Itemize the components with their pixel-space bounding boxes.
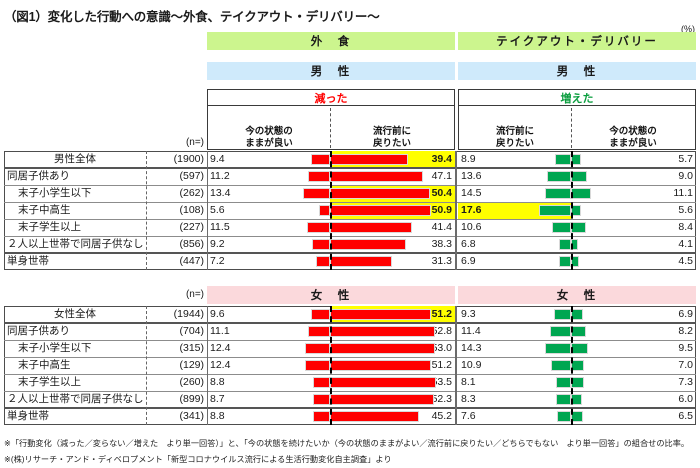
figure-page: （図1）変化した行動への意識～外食、テイクアウト・デリバリー～ (%) 外 食 … bbox=[0, 0, 700, 468]
gaishoku-left-value: 7.2 bbox=[207, 253, 330, 270]
male-data-table: 男性全体(1900)9.439.48.95.7同居子供あり(597)11.247… bbox=[4, 151, 696, 270]
takeout-right-value: 5.7 bbox=[571, 151, 696, 168]
takeout-left-bar bbox=[545, 188, 571, 199]
takeout-right-value: 4.5 bbox=[571, 253, 696, 270]
takeout-right-value: 5.6 bbox=[571, 202, 696, 219]
gaishoku-center-axis bbox=[330, 306, 332, 425]
header-change-takeout: 増えた bbox=[458, 89, 696, 106]
footnote-2: ※(株)リサーチ・アンド・ディベロプメント「新型コロナウイルス流行による生活行動… bbox=[4, 453, 392, 465]
gaishoku-sub-left-line2: ままが良い bbox=[210, 138, 328, 150]
row-separator bbox=[4, 391, 696, 392]
row-sample-size: (262) bbox=[146, 185, 206, 202]
category-band-takeout: テイクアウト・デリバリー bbox=[458, 32, 696, 50]
row-separator bbox=[4, 407, 696, 409]
header-sub-takeout-left: 流行前に 戻りたい bbox=[460, 126, 570, 149]
gaishoku-left-bar bbox=[312, 239, 330, 250]
gaishoku-right-bar bbox=[330, 188, 430, 199]
takeout-left-bar bbox=[552, 222, 571, 233]
gender-band-female-takeout: 女 性 bbox=[458, 286, 696, 304]
gaishoku-right-bar bbox=[330, 326, 435, 337]
gaishoku-left-value: 5.6 bbox=[207, 202, 330, 219]
gender-band-female-gaishoku: 女 性 bbox=[207, 286, 455, 304]
row-label: 単身世帯 bbox=[4, 408, 146, 425]
gaishoku-sub-right-line1: 流行前に bbox=[332, 126, 452, 138]
takeout-right-value: 7.0 bbox=[571, 357, 696, 374]
takeout-left-edge bbox=[456, 151, 457, 270]
row-separator bbox=[4, 374, 696, 375]
gaishoku-sub-left-line1: 今の状態の bbox=[210, 126, 328, 138]
takeout-center-axis bbox=[571, 306, 573, 425]
takeout-right-value: 4.1 bbox=[571, 236, 696, 253]
footnote-1: ※「行動変化（減った／変らない／増えた より単一回答）」と、「今の状態を続けたい… bbox=[4, 437, 689, 449]
takeout-right-value: 8.4 bbox=[571, 219, 696, 236]
gaishoku-right-bar bbox=[330, 309, 431, 320]
category-label-takeout: テイクアウト・デリバリー bbox=[496, 33, 658, 49]
row-label: 末子小学生以下 bbox=[4, 340, 146, 357]
table-row[interactable]: 末子中高生(108)5.650.917.65.6 bbox=[4, 202, 696, 219]
takeout-left-bar bbox=[556, 394, 571, 405]
gaishoku-left-bar bbox=[313, 377, 330, 388]
row-separator bbox=[4, 202, 696, 203]
gaishoku-left-bar bbox=[303, 188, 330, 199]
takeout-left-bar bbox=[545, 343, 571, 354]
takeout-right-bar bbox=[571, 171, 587, 182]
category-band-gaishoku: 外 食 bbox=[207, 32, 455, 50]
gaishoku-right-bar bbox=[330, 394, 434, 405]
row-label: 同居子供あり bbox=[4, 168, 146, 185]
table-row[interactable]: 末子学生以上(260)8.853.58.17.3 bbox=[4, 374, 696, 391]
row-label: 末子小学生以下 bbox=[4, 185, 146, 202]
takeout-left-bar bbox=[539, 205, 571, 216]
row-label: 男性全体 bbox=[4, 151, 146, 168]
row-separator bbox=[4, 236, 696, 237]
row-sample-size: (856) bbox=[146, 236, 206, 253]
table-row[interactable]: 末子小学生以下(262)13.450.414.511.1 bbox=[4, 185, 696, 202]
gaishoku-right-bar bbox=[330, 205, 431, 216]
gaishoku-sub-right-line2: 戻りたい bbox=[332, 138, 452, 150]
takeout-right-bar bbox=[571, 188, 591, 199]
takeout-left-bar bbox=[559, 256, 571, 267]
gaishoku-left-value: 8.7 bbox=[207, 391, 330, 408]
row-label: 単身世帯 bbox=[4, 253, 146, 270]
header-sub-takeout-right: 今の状態の ままが良い bbox=[573, 126, 693, 149]
takeout-left-value: 7.6 bbox=[458, 408, 571, 425]
row-separator bbox=[4, 322, 696, 324]
gaishoku-right-bar bbox=[330, 239, 406, 250]
gaishoku-left-edge bbox=[207, 151, 208, 270]
row-label: ２人以上世帯で同居子供なし bbox=[4, 236, 146, 253]
gender-label-female-2: 女 性 bbox=[557, 287, 598, 303]
gaishoku-left-bar bbox=[313, 411, 330, 422]
takeout-left-bar bbox=[559, 239, 571, 250]
gaishoku-left-edge bbox=[207, 306, 208, 425]
takeout-left-bar bbox=[556, 377, 571, 388]
category-label-gaishoku: 外 食 bbox=[311, 33, 352, 49]
gender-label-female-1: 女 性 bbox=[311, 287, 352, 303]
row-separator bbox=[4, 340, 696, 341]
row-separator bbox=[4, 252, 696, 254]
table-row[interactable]: 単身世帯(447)7.231.36.94.5 bbox=[4, 253, 696, 270]
gaishoku-right-bar bbox=[330, 222, 412, 233]
gaishoku-right-bar bbox=[330, 360, 431, 371]
gaishoku-left-bar bbox=[319, 205, 330, 216]
gaishoku-left-value: 8.8 bbox=[207, 408, 330, 425]
takeout-left-edge bbox=[456, 306, 457, 425]
gaishoku-right-bar bbox=[330, 256, 392, 267]
takeout-sub-right-line1: 今の状態の bbox=[573, 126, 693, 138]
table-row[interactable]: 単身世帯(341)8.845.27.66.5 bbox=[4, 408, 696, 425]
row-sample-size: (597) bbox=[146, 168, 206, 185]
takeout-right-value: 6.0 bbox=[571, 391, 696, 408]
row-sample-size: (899) bbox=[146, 391, 206, 408]
gender-band-male-gaishoku: 男 性 bbox=[207, 62, 455, 80]
takeout-left-bar bbox=[554, 309, 571, 320]
row-sample-size: (1900) bbox=[146, 151, 206, 168]
gaishoku-center-axis bbox=[330, 151, 332, 270]
takeout-sub-left-line1: 流行前に bbox=[460, 126, 570, 138]
header-change-gaishoku: 減った bbox=[207, 89, 455, 106]
takeout-center-axis bbox=[571, 151, 573, 270]
n-header-male: (n=) bbox=[146, 136, 206, 150]
n-header-female: (n=) bbox=[146, 288, 206, 302]
takeout-right-value: 8.2 bbox=[571, 323, 696, 340]
gender-band-male-takeout: 男 性 bbox=[458, 62, 696, 80]
row-sample-size: (260) bbox=[146, 374, 206, 391]
row-sample-size: (227) bbox=[146, 219, 206, 236]
takeout-right-value: 9.5 bbox=[571, 340, 696, 357]
row-sample-size: (447) bbox=[146, 253, 206, 270]
table-row[interactable]: 同居子供あり(597)11.247.113.69.0 bbox=[4, 168, 696, 185]
row-sample-size: (315) bbox=[146, 340, 206, 357]
row-sample-size: (129) bbox=[146, 357, 206, 374]
row-separator bbox=[4, 167, 696, 169]
takeout-right-bar bbox=[571, 343, 588, 354]
row-separator bbox=[4, 185, 696, 186]
row-sample-size: (704) bbox=[146, 323, 206, 340]
takeout-sub-right-line2: ままが良い bbox=[573, 138, 693, 150]
takeout-left-value: 8.3 bbox=[458, 391, 571, 408]
gaishoku-right-bar bbox=[330, 377, 436, 388]
table-row[interactable]: 末子学生以上(227)11.541.410.68.4 bbox=[4, 219, 696, 236]
takeout-right-bar bbox=[571, 326, 586, 337]
page-title: （図1）変化した行動への意識～外食、テイクアウト・デリバリー～ bbox=[4, 6, 380, 25]
takeout-left-value: 6.9 bbox=[458, 253, 571, 270]
female-data-table: 女性全体(1944)9.651.29.36.9同居子供あり(704)11.152… bbox=[4, 306, 696, 425]
gender-label-male-1: 男 性 bbox=[311, 63, 352, 79]
change-label-takeout: 増えた bbox=[561, 90, 594, 106]
row-label: 女性全体 bbox=[4, 306, 146, 323]
table-row[interactable]: 同居子供あり(704)11.152.811.48.2 bbox=[4, 323, 696, 340]
table-row[interactable]: ２人以上世帯で同居子供なし(856)9.238.36.84.1 bbox=[4, 236, 696, 253]
label-n-divider bbox=[146, 306, 147, 425]
header-divider-takeout bbox=[571, 108, 572, 148]
row-separator bbox=[4, 219, 696, 220]
change-label-gaishoku: 減った bbox=[315, 90, 348, 106]
gaishoku-left-value: 8.8 bbox=[207, 374, 330, 391]
gaishoku-right-bar bbox=[330, 171, 423, 182]
gaishoku-left-bar bbox=[305, 343, 330, 354]
takeout-left-value: 8.1 bbox=[458, 374, 571, 391]
row-sample-size: (341) bbox=[146, 408, 206, 425]
row-label: 末子学生以上 bbox=[4, 374, 146, 391]
takeout-right-value: 6.9 bbox=[571, 306, 696, 323]
gaishoku-left-bar bbox=[316, 256, 330, 267]
header-divider-gaishoku bbox=[330, 108, 331, 148]
gaishoku-left-bar bbox=[311, 309, 330, 320]
takeout-sub-left-line2: 戻りたい bbox=[460, 138, 570, 150]
table-row[interactable]: 女性全体(1944)9.651.29.36.9 bbox=[4, 306, 696, 323]
gaishoku-left-bar bbox=[307, 222, 330, 233]
gaishoku-left-bar bbox=[311, 154, 330, 165]
row-label: 末子中高生 bbox=[4, 202, 146, 219]
row-separator bbox=[4, 357, 696, 358]
gaishoku-left-bar bbox=[313, 394, 330, 405]
gaishoku-right-bar bbox=[330, 343, 435, 354]
takeout-right-value: 7.3 bbox=[571, 374, 696, 391]
takeout-right-bar bbox=[571, 222, 586, 233]
header-sub-gaishoku-left: 今の状態の ままが良い bbox=[210, 126, 328, 149]
row-label: 末子学生以上 bbox=[4, 219, 146, 236]
takeout-left-bar bbox=[547, 171, 571, 182]
takeout-left-bar bbox=[555, 154, 571, 165]
table-row[interactable]: 男性全体(1900)9.439.48.95.7 bbox=[4, 151, 696, 168]
table-row[interactable]: ２人以上世帯で同居子供なし(899)8.752.38.36.0 bbox=[4, 391, 696, 408]
row-sample-size: (1944) bbox=[146, 306, 206, 323]
takeout-left-bar bbox=[550, 326, 571, 337]
row-label: ２人以上世帯で同居子供なし bbox=[4, 391, 146, 408]
row-label: 同居子供あり bbox=[4, 323, 146, 340]
row-label: 末子中高生 bbox=[4, 357, 146, 374]
takeout-left-value: 6.8 bbox=[458, 236, 571, 253]
header-sub-gaishoku-right: 流行前に 戻りたい bbox=[332, 126, 452, 149]
gaishoku-right-bar bbox=[330, 411, 419, 422]
takeout-right-value: 9.0 bbox=[571, 168, 696, 185]
label-n-divider bbox=[146, 151, 147, 270]
takeout-left-bar bbox=[551, 360, 571, 371]
gaishoku-left-bar bbox=[308, 326, 330, 337]
gaishoku-right-bar bbox=[330, 154, 408, 165]
gaishoku-left-bar bbox=[308, 171, 330, 182]
takeout-left-bar bbox=[557, 411, 571, 422]
takeout-right-value: 6.5 bbox=[571, 408, 696, 425]
row-sample-size: (108) bbox=[146, 202, 206, 219]
gender-label-male-2: 男 性 bbox=[557, 63, 598, 79]
table-row[interactable]: 末子小学生以下(315)12.453.014.39.5 bbox=[4, 340, 696, 357]
gaishoku-left-bar bbox=[305, 360, 330, 371]
table-row[interactable]: 末子中高生(129)12.451.210.97.0 bbox=[4, 357, 696, 374]
